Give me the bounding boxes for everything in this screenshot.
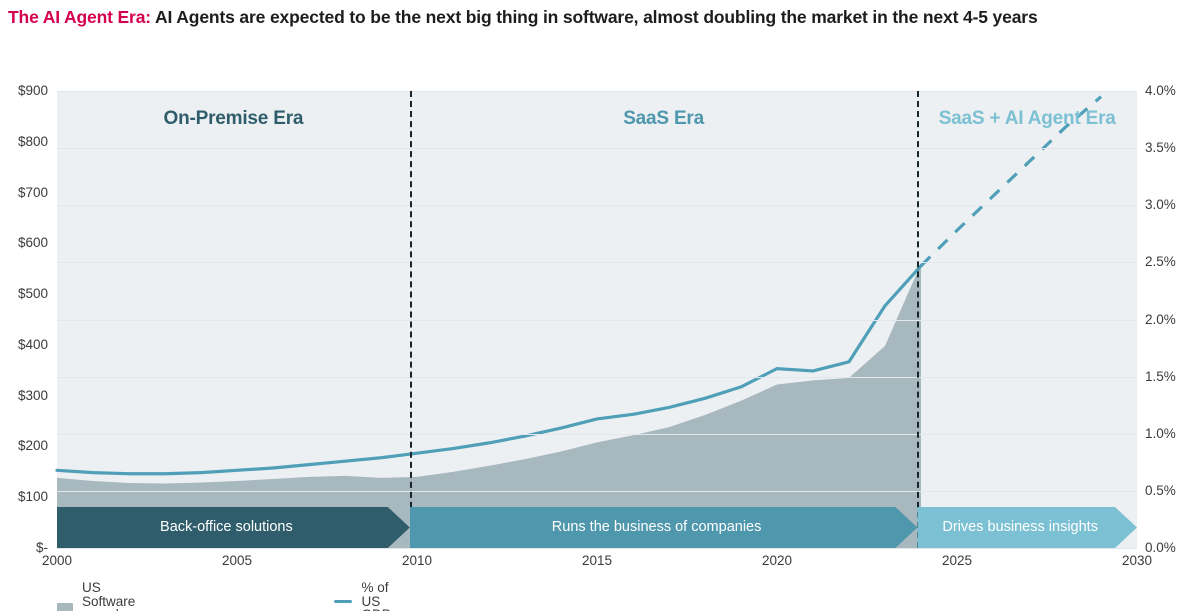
chart-page: The AI Agent Era: AI Agents are expected… <box>0 0 1201 611</box>
gridline <box>57 377 1137 378</box>
y-axis-right-tick-label: 0.5% <box>1145 484 1201 498</box>
chart-container: $-$100$200$300$400$500$600$700$800$900 0… <box>0 72 1201 611</box>
y-axis-right-tick-label: 0.0% <box>1145 541 1201 555</box>
era-arrow-label: Runs the business of companies <box>552 520 776 535</box>
y-axis-right-tick-label: 2.0% <box>1145 313 1201 327</box>
legend-label: US Software spend ($bn) <box>82 581 153 611</box>
y-axis-left-tick-label: $500 <box>0 287 48 301</box>
era-arrow-label: Drives business insights <box>942 520 1112 535</box>
y-axis-right-tick-label: 1.0% <box>1145 427 1201 441</box>
y-axis-left-tick-label: $700 <box>0 186 48 200</box>
gridline <box>57 148 1137 149</box>
gridline <box>57 434 1137 435</box>
x-axis-tick-label: 2015 <box>562 554 632 568</box>
legend-swatch-area <box>57 603 73 611</box>
y-axis-right-tick-label: 3.5% <box>1145 141 1201 155</box>
era-divider-line <box>917 91 919 548</box>
y-axis-right-tick-label: 4.0% <box>1145 84 1201 98</box>
title-rest: AI Agents are expected to be the next bi… <box>151 7 1038 27</box>
x-axis-tick-label: 2030 <box>1102 554 1172 568</box>
y-axis-left-tick-label: $900 <box>0 84 48 98</box>
x-axis-tick-label: 2005 <box>202 554 272 568</box>
gridline <box>57 91 1137 92</box>
legend-item[interactable]: % of US GDP <box>334 581 406 611</box>
gridline <box>57 320 1137 321</box>
y-axis-left-tick-label: $800 <box>0 135 48 149</box>
gridline <box>57 491 1137 492</box>
legend-label: % of US GDP <box>361 581 406 611</box>
title-accent: The AI Agent Era: <box>8 7 151 27</box>
gridline <box>57 548 1137 549</box>
gridline <box>57 205 1137 206</box>
arrow-band: Back-office solutionsRuns the business o… <box>57 507 1137 548</box>
y-axis-right-tick-label: 1.5% <box>1145 370 1201 384</box>
era-arrow-2: Runs the business of companies <box>410 507 918 548</box>
y-axis-left-tick-label: $400 <box>0 338 48 352</box>
y-axis-left-tick-label: $200 <box>0 439 48 453</box>
era-arrow-1: Back-office solutions <box>57 507 410 548</box>
x-axis-tick-label: 2025 <box>922 554 992 568</box>
era-arrow-label: Back-office solutions <box>160 520 307 535</box>
era-divider-line <box>410 91 412 548</box>
y-axis-left-tick-label: $300 <box>0 389 48 403</box>
legend-item[interactable]: US Software spend ($bn) <box>57 581 153 611</box>
y-axis-left-tick-label: $600 <box>0 236 48 250</box>
page-title: The AI Agent Era: AI Agents are expected… <box>8 5 1193 29</box>
era-label-3: SaaS + AI Agent Era <box>917 108 1137 130</box>
y-axis-left-tick-label: $100 <box>0 490 48 504</box>
y-axis-right-tick-label: 3.0% <box>1145 198 1201 212</box>
y-axis-left-tick-label: $- <box>0 541 48 555</box>
gridline <box>57 262 1137 263</box>
era-arrow-3: Drives business insights <box>917 507 1137 548</box>
era-label-2: SaaS Era <box>410 108 918 130</box>
x-axis-tick-label: 2000 <box>22 554 92 568</box>
x-axis-tick-label: 2010 <box>382 554 452 568</box>
era-label-1: On-Premise Era <box>57 108 410 130</box>
y-axis-right-tick-label: 2.5% <box>1145 255 1201 269</box>
legend-swatch-line <box>334 600 352 604</box>
x-axis-tick-label: 2020 <box>742 554 812 568</box>
